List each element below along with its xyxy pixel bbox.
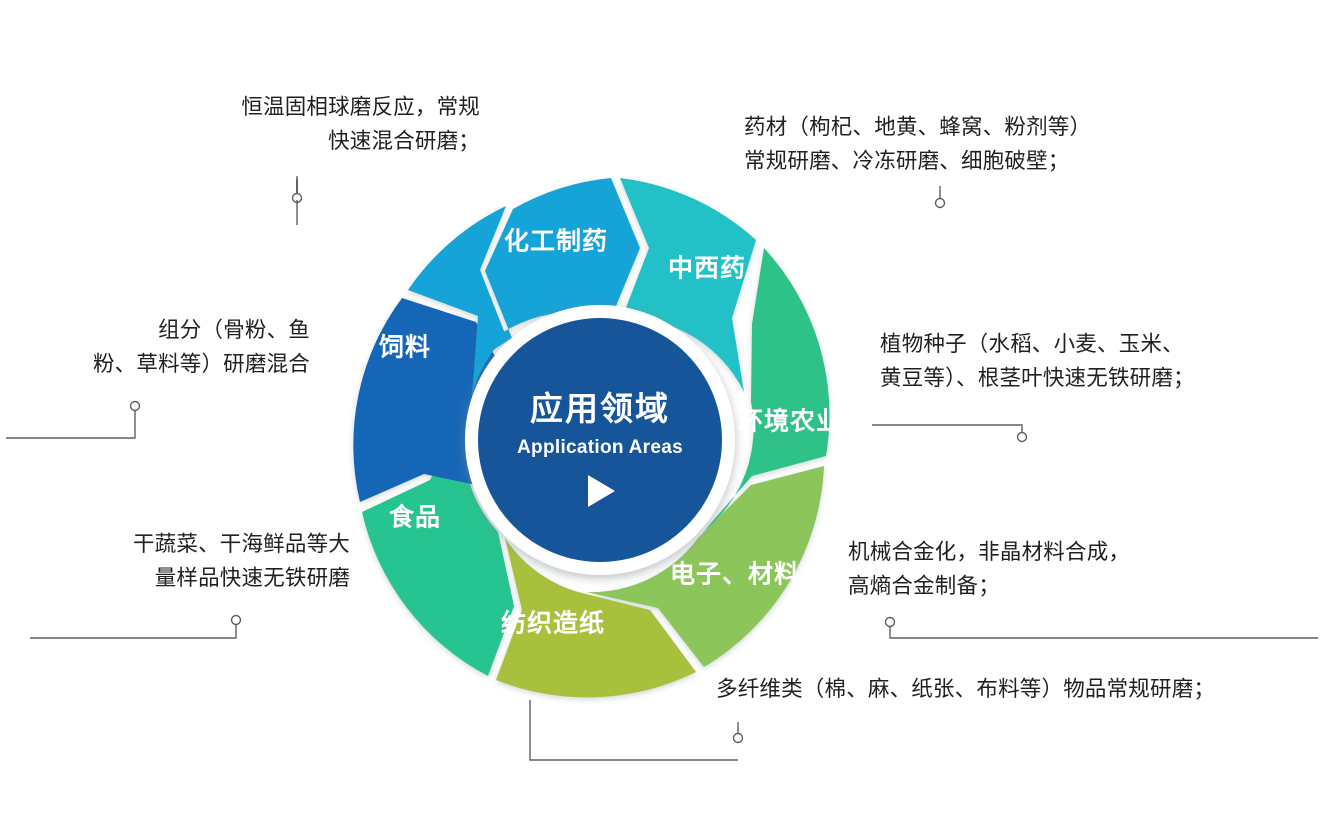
callout-tcm-western: 药材（枸杞、地黄、蜂窝、粉剂等） 常规研磨、冷冻研磨、细胞破壁； xyxy=(744,110,1174,178)
callout-feed: 组分（骨粉、鱼 粉、草料等）研磨混合 xyxy=(20,313,310,381)
leader-feed xyxy=(6,410,135,438)
leader-textile-bracket xyxy=(530,700,738,760)
callout-textile-paper: 多纤维类（棉、麻、纸张、布料等）物品常规研磨； xyxy=(716,672,1316,706)
infographic-canvas: 应用领域 Application Areas 化工制药 中西药 环境农业 电子、… xyxy=(0,0,1330,824)
callout-environment-agri: 植物种子（水稻、小麦、玉米、 黄豆等）、根茎叶快速无铁研磨； xyxy=(880,327,1280,395)
leader-electronics-materials xyxy=(890,626,1318,638)
leader-food xyxy=(30,624,236,638)
callout-electronics-materials: 机械合金化，非晶材料合成， 高熵合金制备； xyxy=(848,535,1228,603)
leader-environment-agri xyxy=(872,425,1022,433)
callout-food: 干蔬菜、干海鲜品等大 量样品快速无铁研磨 xyxy=(40,527,350,595)
callout-chemical-pharma: 恒温固相球磨反应，常规 快速混合研磨； xyxy=(120,90,480,158)
